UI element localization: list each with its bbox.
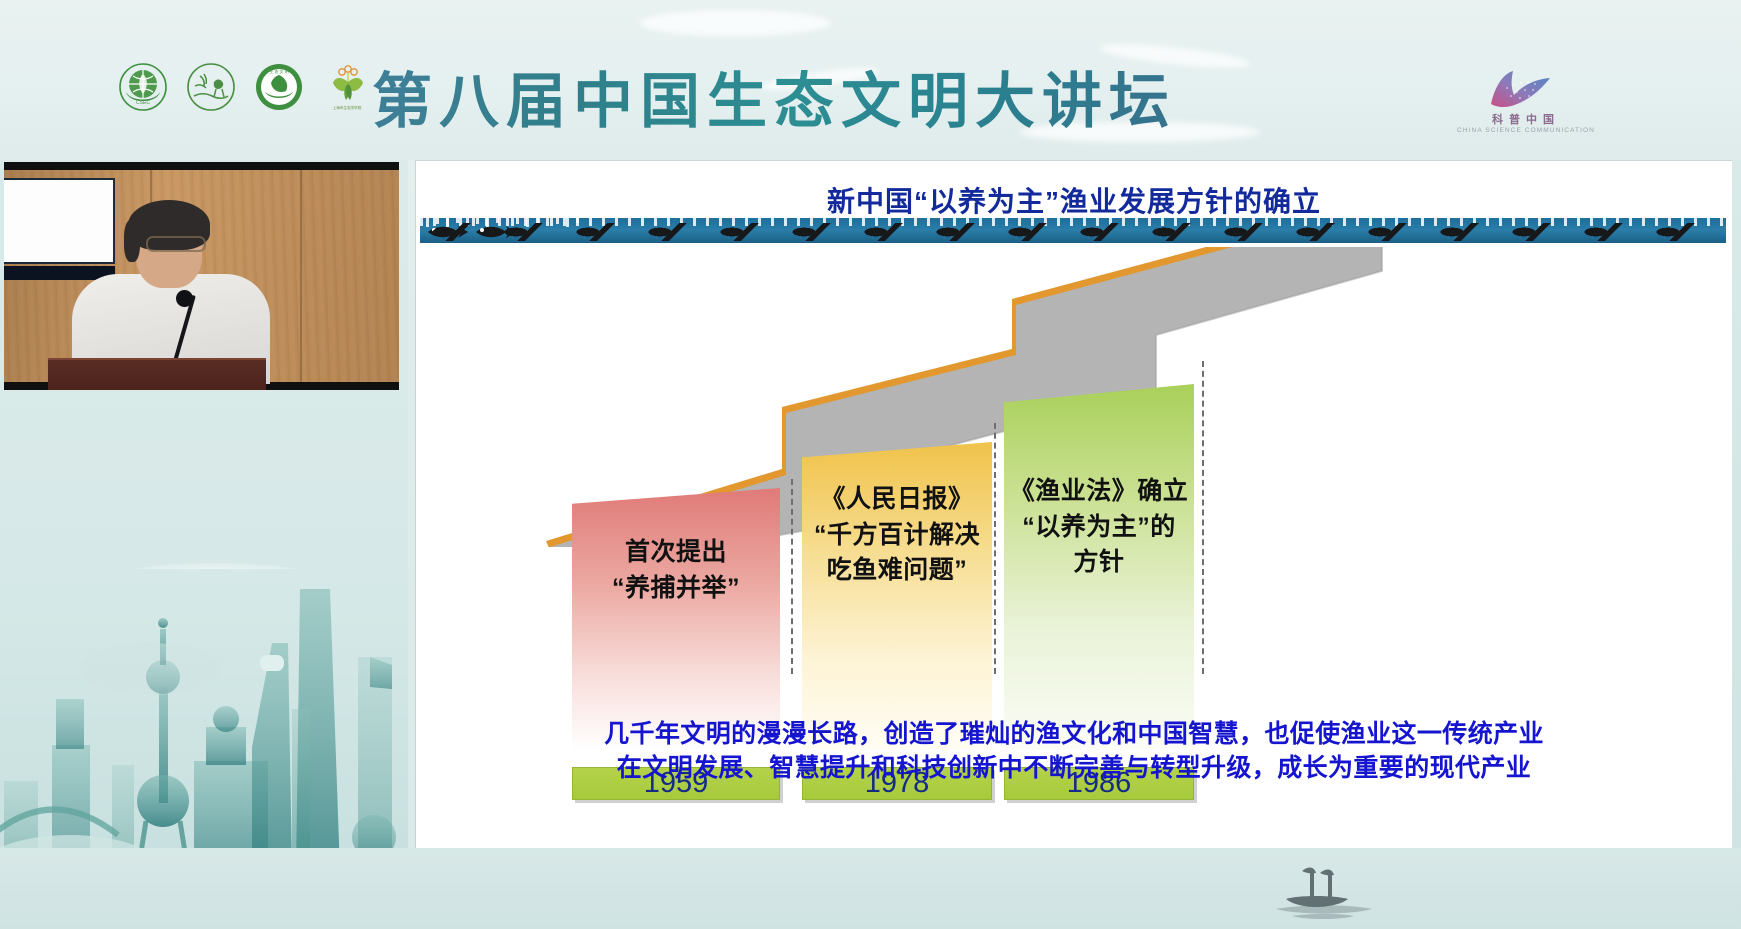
sponsor-logo-cn-text: 科普中国 [1492,111,1560,127]
ink-wash-boat-icon [1258,863,1388,923]
column-line: 吃鱼难问题” [802,553,992,589]
speaker-glasses [146,236,206,252]
speaker-side-panel: 一传统产业 现代产业 桂建芳 院士 中国科学院院士 [0,160,408,929]
column-divider-3 [1202,361,1204,674]
page-bottom-strip [0,848,1741,929]
wall-seam [300,170,302,382]
logo-wetland-icon [186,62,236,112]
column-text-1978: 《人民日报》 “千方百计解决 吃鱼难问题” [802,482,992,589]
column-color-band-1959 [572,488,780,750]
svg-text:CSEC: CSEC [136,100,150,106]
column-line: “养捕并举” [572,571,780,607]
slide-title: 新中国“以养为主”渔业发展方针的确立 [416,180,1732,220]
lectern-podium [48,358,266,390]
organizer-logo-row: CSEC 生 态 文 明 [118,62,372,112]
logo-shanghai-eco-college-caption: 上海市生态学学院 [333,105,362,110]
column-line: 方针 [1004,545,1194,581]
column-line: 《渔业法》确立 [1004,474,1194,510]
sponsor-logo-china-science-communication: 科普中国 CHINA SCIENCE COMMUNICATION [1461,62,1591,134]
presentation-slide: 新中国“以养为主”渔业发展方针的确立 [416,161,1732,848]
slide-caption-line-1: 几千年文明的漫漫长路，创造了璀灿的渔文化和中国智慧，也促使渔业这一传统产业 [416,718,1732,752]
event-header-banner: CSEC 生 态 文 明 [0,0,1741,160]
svg-text:生 态 文 明: 生 态 文 明 [269,68,288,74]
slide-caption: 几千年文明的漫漫长路，创造了璀灿的渔文化和中国智慧，也促使渔业这一传统产业 在文… [416,718,1732,787]
column-line: “千方百计解决 [802,518,992,554]
timeline-column-1959: 首次提出 “养捕并举” 1959 [572,448,780,848]
fish-pattern-decor-band [420,218,1726,243]
slide-caption-line-2: 在文明发展、智慧提升和科技创新中不断完善与转型升级，成长为重要的现代产业 [416,752,1732,786]
csc-fin-mark-icon [1487,68,1565,110]
projected-slide-preview: 一传统产业 现代产业 [0,178,115,264]
logo-ecology-civilization-icon: CSEC [118,62,168,112]
slide-right-margin [1732,160,1741,848]
column-divider-1 [791,479,793,674]
column-text-1986: 《渔业法》确立 “以养为主”的 方针 [1004,474,1194,581]
column-text-1959: 首次提出 “养捕并举” [572,535,780,606]
column-divider-2 [994,423,996,674]
microphone-head-icon [176,290,193,307]
logo-green-leaf-icon: 生 态 文 明 [254,62,304,112]
speaker-video-thumbnail[interactable]: 一传统产业 现代产业 [0,162,399,390]
logo-shanghai-eco-college-icon: 上海市生态学学院 [322,62,372,112]
sponsor-logo-en-text: CHINA SCIENCE COMMUNICATION [1457,127,1595,134]
timeline-column-1986: 《渔业法》确立 “以养为主”的 方针 1986 [1004,448,1194,848]
timeline-column-1978: 《人民日报》 “千方百计解决 吃鱼难问题” 1978 [802,448,992,848]
column-line: 首次提出 [572,535,780,571]
column-line: “以养为主”的 [1004,510,1194,546]
fish-band-fish-row [420,223,1726,241]
video-left-border [0,162,4,390]
column-line: 《人民日报》 [802,482,992,518]
event-title: 第八届中国生态文明大讲坛 [372,54,1212,138]
cloud-wisp-decor [640,10,830,36]
